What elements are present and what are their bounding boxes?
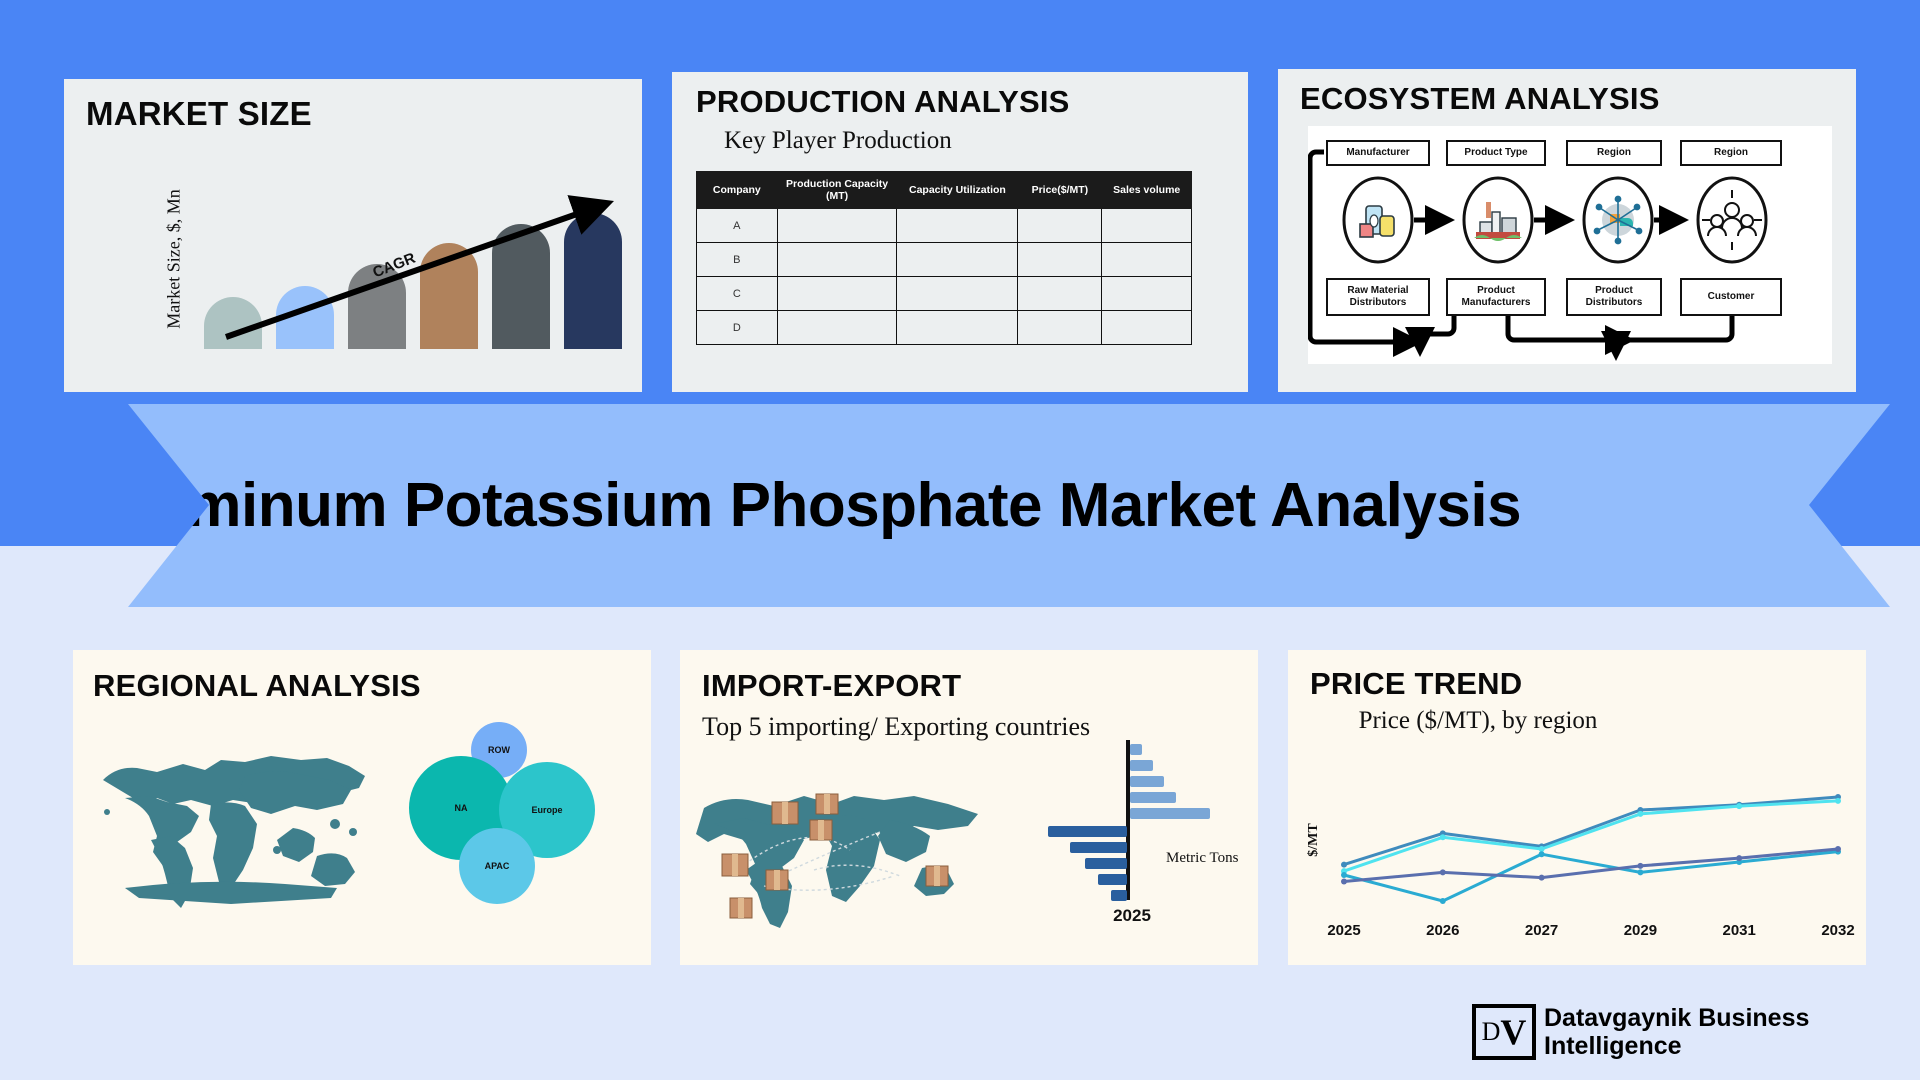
market-size-y-axis-label: Market Size, $, Mn: [164, 189, 185, 328]
bubble-label: NA: [455, 803, 468, 813]
production-analysis-subtitle: Key Player Production: [724, 127, 952, 155]
table-cell: [1102, 277, 1192, 311]
table-header-row: CompanyProduction Capacity (MT)Capacity …: [697, 172, 1192, 209]
bar: [492, 224, 550, 349]
world-trade-map-icon: [694, 758, 994, 928]
market-size-title: MARKET SIZE: [86, 95, 312, 133]
series-point: [1341, 862, 1347, 868]
price-trend-line-chart: [1322, 770, 1852, 920]
x-tick-label: 2026: [1412, 922, 1474, 939]
bar: [276, 286, 334, 349]
series-point: [1835, 798, 1841, 804]
table-cell: [897, 277, 1018, 311]
world-map-icon: [85, 728, 395, 918]
column-header: Price($/MT): [1018, 172, 1102, 209]
import-bar: [1130, 744, 1143, 755]
import-export-year-label: 2025: [1102, 906, 1162, 926]
series-point: [1440, 834, 1446, 840]
export-bar: [1098, 874, 1127, 885]
table-cell: [1018, 243, 1102, 277]
company-logo: DV Datavgaynik Business Intelligence: [1472, 996, 1884, 1068]
series-point: [1539, 875, 1545, 881]
series-point: [1637, 869, 1643, 875]
import-export-subtitle: Top 5 importing/ Exporting countries: [702, 712, 1090, 742]
series-point: [1637, 863, 1643, 869]
ecosystem-analysis-title: ECOSYSTEM ANALYSIS: [1300, 81, 1660, 117]
bubble-label: Europe: [531, 805, 562, 815]
table-row: B: [697, 243, 1192, 277]
table-cell: C: [697, 277, 778, 311]
series-point: [1736, 855, 1742, 861]
import-export-unit-label: Metric Tons: [1166, 850, 1238, 867]
x-tick-label: 2025: [1313, 922, 1375, 939]
table-cell: [897, 243, 1018, 277]
column-header: Company: [697, 172, 778, 209]
import-bar: [1130, 808, 1211, 819]
series-point: [1637, 811, 1643, 817]
table-cell: [897, 209, 1018, 243]
logo-line-2: Intelligence: [1544, 1032, 1809, 1060]
bubble-label: APAC: [485, 861, 510, 871]
logo-letter-v: V: [1500, 1011, 1526, 1053]
key-player-production-table: CompanyProduction Capacity (MT)Capacity …: [696, 171, 1192, 345]
export-bar: [1111, 890, 1128, 901]
table-row: D: [697, 311, 1192, 345]
column-header: Capacity Utilization: [897, 172, 1018, 209]
series-point: [1440, 898, 1446, 904]
title-banner: Aluminum Potassium Phosphate Market Anal…: [34, 404, 1890, 607]
price-trend-title: PRICE TREND: [1310, 666, 1522, 702]
table-cell: [777, 209, 897, 243]
price-trend-y-axis-label: $/MT: [1306, 823, 1322, 856]
ecosystem-top-box: Product Type: [1446, 140, 1546, 166]
x-tick-label: 2032: [1807, 922, 1869, 939]
distribution-network-icon: [1576, 174, 1660, 266]
table-cell: A: [697, 209, 778, 243]
table-cell: [1102, 243, 1192, 277]
series-point: [1440, 869, 1446, 875]
export-bar: [1070, 842, 1127, 853]
table-cell: [1018, 311, 1102, 345]
series-point: [1736, 803, 1742, 809]
import-export-diverging-bar-chart: Metric Tons 2025: [1040, 740, 1240, 920]
regional-bubble-chart: ROW NA Europe APAC: [403, 722, 623, 922]
bar: [204, 297, 262, 349]
import-export-title: IMPORT-EXPORT: [702, 668, 961, 704]
import-bar: [1130, 776, 1165, 787]
series-point: [1341, 872, 1347, 878]
table-cell: [777, 311, 897, 345]
ecosystem-analysis-panel: ECOSYSTEM ANALYSIS ManufacturerRaw Mater…: [1278, 69, 1856, 392]
series-line: [1344, 849, 1838, 882]
price-trend-panel: PRICE TREND Price ($/MT), by region $/MT…: [1288, 650, 1866, 965]
factory-icon: [1456, 174, 1540, 266]
table-cell: B: [697, 243, 778, 277]
logo-line-1: Datavgaynik Business: [1544, 1004, 1809, 1032]
table-cell: [777, 243, 897, 277]
bubble-apac: APAC: [459, 828, 535, 904]
regional-analysis-panel: REGIONAL ANALYSIS ROW NA Europe: [73, 650, 651, 965]
x-tick-label: 2031: [1708, 922, 1770, 939]
bar: [348, 264, 406, 349]
logo-mark-dv: DV: [1472, 1004, 1536, 1060]
import-bar: [1130, 792, 1176, 803]
ecosystem-top-box: Region: [1680, 140, 1782, 166]
table-cell: [1102, 311, 1192, 345]
regional-analysis-title: REGIONAL ANALYSIS: [93, 668, 421, 704]
table-cell: [897, 311, 1018, 345]
x-tick-label: 2029: [1609, 922, 1671, 939]
chemical-drums-icon: [1336, 174, 1420, 266]
production-analysis-title: PRODUCTION ANALYSIS: [696, 84, 1070, 120]
page-title: Aluminum Potassium Phosphate Market Anal…: [88, 470, 1521, 541]
table-cell: [1102, 209, 1192, 243]
table-cell: [777, 277, 897, 311]
ecosystem-bottom-box: Product Manufacturers: [1446, 278, 1546, 316]
series-point: [1835, 846, 1841, 852]
table-row: A: [697, 209, 1192, 243]
import-export-panel: IMPORT-EXPORT Top 5 importing/ Exporting…: [680, 650, 1258, 965]
ecosystem-bottom-box: Customer: [1680, 278, 1782, 316]
logo-letter-d: D: [1482, 1017, 1501, 1047]
series-point: [1539, 851, 1545, 857]
import-bar: [1130, 760, 1154, 771]
series-point: [1341, 879, 1347, 885]
export-bar: [1085, 858, 1127, 869]
ecosystem-top-box: Region: [1566, 140, 1662, 166]
ecosystem-top-box: Manufacturer: [1326, 140, 1430, 166]
series-point: [1539, 846, 1545, 852]
ecosystem-bottom-box: Product Distributors: [1566, 278, 1662, 316]
ecosystem-bottom-box: Raw Material Distributors: [1326, 278, 1430, 316]
price-trend-subtitle: Price ($/MT), by region: [1348, 706, 1608, 737]
column-header: Production Capacity (MT): [777, 172, 897, 209]
bar: [564, 213, 622, 349]
logo-wordmark: Datavgaynik Business Intelligence: [1544, 1004, 1809, 1060]
table-cell: D: [697, 311, 778, 345]
x-tick-label: 2027: [1511, 922, 1573, 939]
bubble-label: ROW: [488, 745, 510, 755]
market-size-bars: [204, 199, 634, 349]
table-cell: [1018, 209, 1102, 243]
series-line: [1344, 852, 1838, 901]
export-bar: [1048, 826, 1127, 837]
bar: [420, 243, 478, 349]
table-cell: [1018, 277, 1102, 311]
column-header: Sales volume: [1102, 172, 1192, 209]
table-row: C: [697, 277, 1192, 311]
customer-group-icon: [1690, 174, 1774, 266]
production-analysis-panel: PRODUCTION ANALYSIS Key Player Productio…: [672, 72, 1248, 392]
market-size-panel: MARKET SIZE Market Size, $, Mn CAGR 2025…: [64, 79, 642, 392]
ecosystem-value-chain-diagram: ManufacturerRaw Material DistributorsPro…: [1308, 126, 1832, 364]
